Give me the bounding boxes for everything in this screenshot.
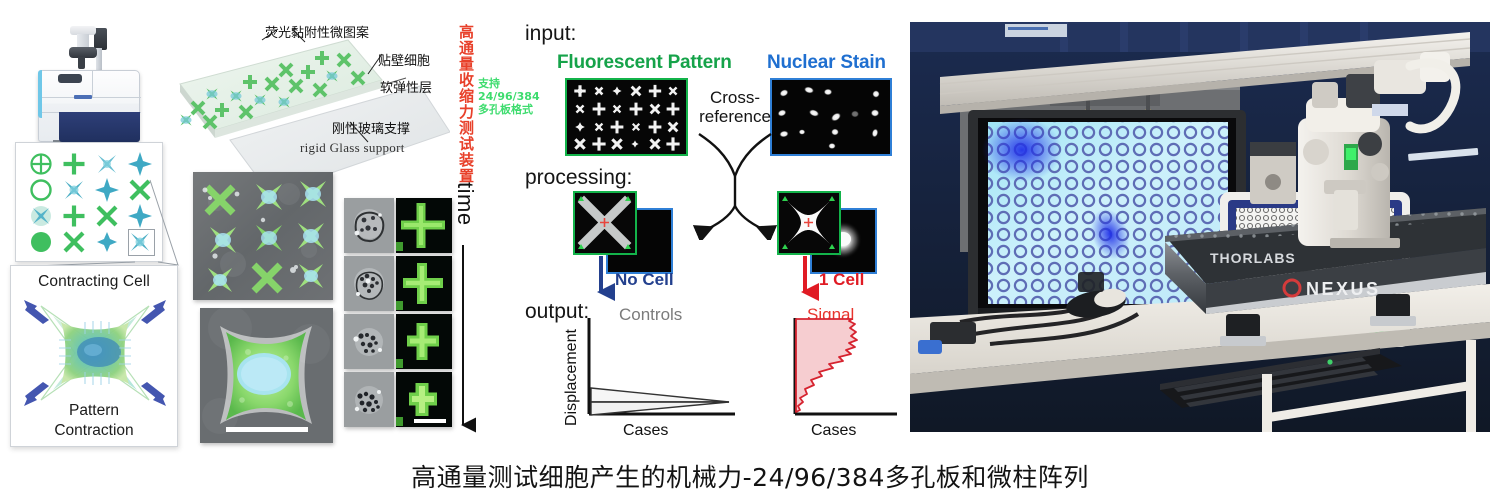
chart-xlabel-cases-controls: Cases (623, 422, 668, 440)
cross-reference-label: Cross- reference (697, 88, 773, 126)
micrograph-pattern-field (193, 172, 333, 300)
image-nocell-pattern (573, 191, 637, 255)
figure-root: Contracting Cell (0, 0, 1500, 500)
panel-schematic: Contracting Cell (0, 0, 500, 455)
timelapse-fluorescence-2 (396, 256, 452, 311)
time-axis-label: time (452, 182, 478, 226)
instrument-accent-stripe (38, 70, 42, 118)
chart-ylabel-displacement: Displacement (563, 318, 581, 426)
timelapse-fluorescence-3 (396, 314, 452, 369)
step-processing-label: processing: (525, 166, 632, 190)
label-soft-elastic-layer: 软弹性层 (380, 77, 432, 96)
chart-xlabel-cases-signal: Cases (811, 422, 856, 440)
chart-signal (789, 316, 901, 424)
panel-photograph: THORLABS NEXUS (910, 22, 1490, 432)
cross-reference-line-1: Cross- (697, 88, 773, 107)
callout-subtitle-line2: Contraction (11, 422, 177, 440)
vertical-red-caption: 高通量收缩力测试装置 (458, 24, 473, 184)
image-nuclear-stain (770, 78, 892, 156)
label-rigid-glass-support-en: rigid Glass support (300, 140, 405, 156)
thorlabs-brand-text: THORLABS (1210, 250, 1296, 266)
timelapse-phase-1 (344, 198, 394, 253)
figure-caption: 高通量测试细胞产生的机械力-24/96/384多孔板和微柱阵列 (0, 458, 1500, 494)
label-rigid-glass-support-cn: 刚性玻璃支撑 (332, 118, 410, 137)
step-input-label: input: (525, 22, 576, 46)
micrograph-single-cell (200, 308, 333, 443)
panel-workflow: input: Fluorescent Pattern Nuclear Stain (505, 0, 905, 455)
contracting-cell-illustration (19, 288, 171, 418)
timelapse-fluorescence-1 (396, 198, 452, 253)
callout-subtitle-line1: Pattern (11, 402, 177, 420)
contracting-cell-callout: Contracting Cell (10, 265, 178, 447)
cross-reference-line-2: reference (697, 107, 773, 126)
image-fluorescent-pattern (565, 78, 688, 156)
timelapse-phase-4 (344, 372, 394, 427)
chart-controls (583, 316, 741, 424)
timelapse-phase-3 (344, 314, 394, 369)
lab-photo-illustration: THORLABS NEXUS (910, 22, 1490, 432)
label-fluorescent-micropattern: 荧光黏附性微图案 (265, 22, 369, 41)
microscope-head-icon (66, 26, 100, 72)
nocell-arrow (589, 256, 615, 304)
time-arrow (452, 245, 476, 435)
onecell-arrow (793, 256, 819, 304)
cross-reference-arrows (693, 128, 777, 240)
title-nuclear-stain: Nuclear Stain (767, 52, 886, 74)
label-adherent-cell: 贴壁细胞 (378, 50, 430, 69)
sample-tray (58, 74, 82, 83)
nexus-brand-text: NEXUS (1306, 279, 1381, 299)
label-no-cell: No Cell (615, 270, 674, 290)
title-fluorescent-pattern: Fluorescent Pattern (557, 52, 732, 74)
label-1-cell: 1 Cell (819, 270, 864, 290)
image-1cell-pattern (777, 191, 841, 255)
timelapse-phase-2 (344, 256, 394, 311)
timelapse-fluorescence-4 (396, 372, 452, 427)
